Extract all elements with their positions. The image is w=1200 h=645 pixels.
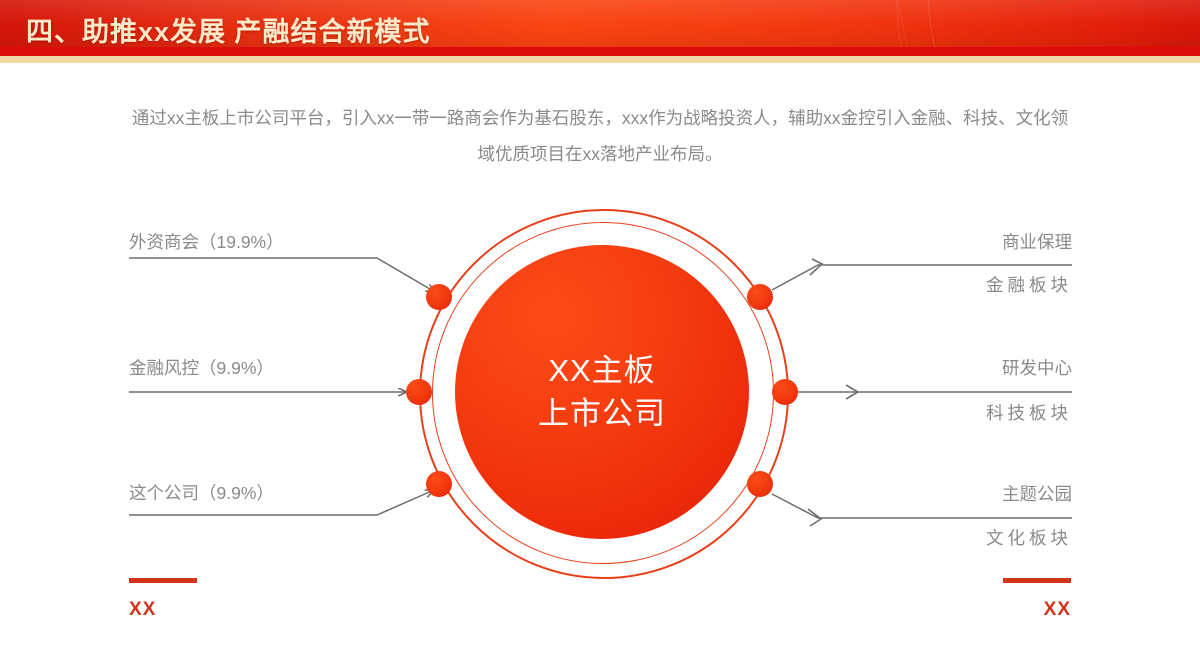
header-dark-band <box>0 47 1200 56</box>
page-title: 四、助推xx发展 产融结合新模式 <box>26 10 431 49</box>
connector-output-2 <box>797 385 1072 399</box>
footer-mark-right: XX <box>1003 578 1071 621</box>
output-title-3: 主题公园 <box>1002 481 1072 506</box>
footer-bar-left <box>129 578 197 583</box>
input-label-1: 外资商会（19.9%） <box>129 229 284 254</box>
center-node[interactable]: XX主板 上市公司 <box>455 245 749 539</box>
footer-label-right: XX <box>1003 599 1071 621</box>
footer-mark-left: XX <box>129 578 197 621</box>
node-dot-input-3[interactable] <box>426 471 452 497</box>
node-dot-output-2[interactable] <box>772 379 798 405</box>
center-node-line-1: XX主板 <box>548 349 655 392</box>
center-node-line-2: 上市公司 <box>538 392 666 435</box>
output-title-2: 研发中心 <box>1002 355 1072 380</box>
node-dot-output-1[interactable] <box>747 284 773 310</box>
header-gold-band <box>0 56 1200 63</box>
footer-label-left: XX <box>129 599 197 621</box>
input-label-3: 这个公司（9.9%） <box>129 480 274 505</box>
output-title-1: 商业保理 <box>1002 229 1072 254</box>
footer-bar-right <box>1003 578 1071 583</box>
node-dot-input-1[interactable] <box>426 284 452 310</box>
output-sector-2: 科技板块 <box>986 400 1072 425</box>
connector-input-1 <box>129 258 435 292</box>
input-label-2: 金融风控（9.9%） <box>129 355 274 380</box>
output-sector-1: 金融板块 <box>986 272 1072 297</box>
diagram-stage: XX主板 上市公司 外资商会（19.9%） 金融风控（9.9%） 这个公司（9.… <box>0 0 1200 645</box>
node-dot-output-3[interactable] <box>747 471 773 497</box>
output-sector-3: 文化板块 <box>986 525 1072 550</box>
node-dot-input-2[interactable] <box>406 379 432 405</box>
